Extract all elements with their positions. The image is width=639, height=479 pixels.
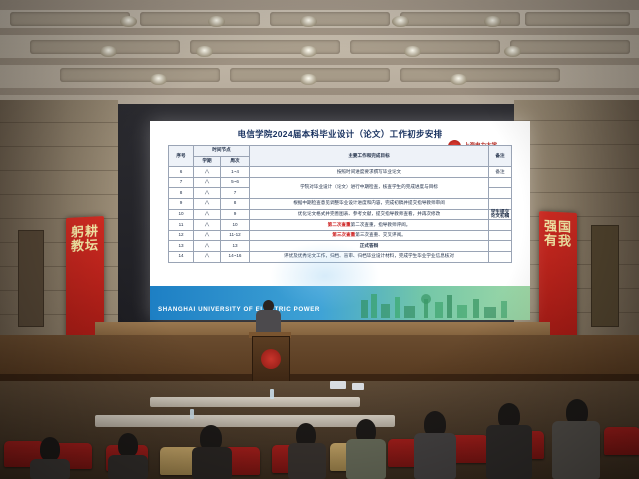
cell-term: 八 bbox=[194, 167, 221, 178]
cell-term: 八 bbox=[194, 177, 221, 188]
cell-no: 13 bbox=[169, 241, 194, 252]
cell-week: 13 bbox=[221, 241, 250, 252]
cell-no: 12 bbox=[169, 230, 194, 241]
floor bbox=[0, 381, 639, 479]
cell-term: 八 bbox=[194, 188, 221, 199]
cell-no: 10 bbox=[169, 209, 194, 220]
cell-highlight: 第二次查重 bbox=[328, 222, 351, 227]
ceiling bbox=[0, 0, 639, 112]
screen-glare bbox=[270, 241, 380, 311]
cell-note bbox=[489, 251, 512, 262]
cell-task: 根据中期检查意见调整毕业设计进度和内容，完成初稿并提交指导教师审阅 bbox=[250, 198, 489, 209]
cell-week: 11-12 bbox=[221, 230, 250, 241]
audience-person bbox=[486, 425, 532, 479]
audience-person bbox=[192, 447, 232, 479]
screenshot-root: 躬耕教坛 强国有我 电信学院2024届本科毕业设计（论文）工作初步安排 上海电力… bbox=[0, 0, 639, 479]
cell-no: 9 bbox=[169, 198, 194, 209]
cell-no: 11 bbox=[169, 220, 194, 231]
slide-footer-text: SHANGHAI UNIVERSITY OF ELECTRIC POWER bbox=[158, 306, 320, 313]
col-no: 序号 bbox=[169, 146, 194, 167]
audience-person bbox=[288, 443, 326, 479]
audience-person bbox=[108, 455, 148, 479]
cell-task: 优化论文格式并完善图表、参考文献，提交指导教师查看，并再次修改 bbox=[250, 209, 489, 220]
cell-note bbox=[489, 220, 512, 231]
table-front bbox=[150, 397, 360, 407]
cell-highlight: 正式答辩 bbox=[250, 241, 489, 252]
table-row: 12 八 11-12 第三次查重第三次查重、交叉评阅。 bbox=[169, 230, 512, 241]
cell-highlight: 第三次查重 bbox=[332, 232, 355, 237]
table-row: 11 八 10 第二次查重第二次查重，指导教师评阅。 bbox=[169, 220, 512, 231]
cell-term: 八 bbox=[194, 251, 221, 262]
table-row: 9 八 8 根据中期检查意见调整毕业设计进度和内容，完成初稿并提交指导教师审阅 bbox=[169, 198, 512, 209]
podium-emblem-icon bbox=[261, 349, 281, 369]
city-skyline-graphic bbox=[351, 288, 516, 318]
col-time: 时间节点 bbox=[194, 146, 250, 157]
cell-note bbox=[489, 241, 512, 252]
water-bottle bbox=[270, 389, 274, 399]
cell-note bbox=[489, 230, 512, 241]
cell-no: 14 bbox=[169, 251, 194, 262]
water-bottle bbox=[190, 409, 194, 419]
cell-week: 5~6 bbox=[221, 177, 250, 188]
cell-no: 7 bbox=[169, 177, 194, 188]
cell-term: 八 bbox=[194, 230, 221, 241]
cell-task: 第二次查重，指导教师评阅。 bbox=[351, 222, 411, 227]
audience-person bbox=[414, 433, 456, 479]
slide: 电信学院2024届本科毕业设计（论文）工作初步安排 上海电力大学 序号 时间节点… bbox=[150, 121, 530, 320]
cell-task: 学院对毕业设计（论文）进行中期检查，核查学生的完成进度与目标 bbox=[250, 177, 489, 198]
cell-term: 八 bbox=[194, 209, 221, 220]
cell-week: 10 bbox=[221, 220, 250, 231]
cell-week: 1~4 bbox=[221, 167, 250, 178]
chair bbox=[604, 427, 639, 455]
audience-person bbox=[346, 439, 386, 479]
cell-note bbox=[489, 177, 512, 188]
table-row: 6 八 1~4 按照时间进度要求撰写毕业论文 备注 bbox=[169, 167, 512, 178]
podium bbox=[252, 336, 290, 382]
cell-week: 9 bbox=[221, 209, 250, 220]
laptop bbox=[330, 381, 346, 389]
table-row: 10 八 9 优化论文格式并完善图表、参考文献，提交指导教师查看，并再次修改 学… bbox=[169, 209, 512, 220]
laptop bbox=[352, 383, 364, 390]
col-task: 主要工作和完成目标 bbox=[250, 146, 489, 167]
cell-note: 备注 bbox=[489, 167, 512, 178]
subcol-week: 周次 bbox=[221, 156, 250, 167]
audience-person bbox=[40, 437, 60, 461]
cell-week: 14~16 bbox=[221, 251, 250, 262]
led-screen: 电信学院2024届本科毕业设计（论文）工作初步安排 上海电力大学 序号 时间节点… bbox=[150, 121, 530, 320]
cell-highlight: 学生提交论文初稿 bbox=[489, 209, 512, 220]
cell-week: 8 bbox=[221, 198, 250, 209]
audience-person bbox=[30, 459, 70, 479]
audience-person bbox=[118, 433, 138, 457]
table-second bbox=[95, 415, 395, 427]
cell-task: 按照时间进度要求撰写毕业论文 bbox=[250, 167, 489, 178]
cell-week: 7 bbox=[221, 188, 250, 199]
cell-task: 第三次查重、交叉评阅。 bbox=[355, 232, 406, 237]
left-door bbox=[18, 230, 44, 327]
audience-person bbox=[552, 421, 600, 479]
cell-no: 8 bbox=[169, 188, 194, 199]
cell-term: 八 bbox=[194, 241, 221, 252]
cell-note bbox=[489, 198, 512, 209]
table-header-row: 序号 时间节点 主要工作和完成目标 备注 bbox=[169, 146, 512, 157]
right-door bbox=[591, 225, 619, 327]
cell-term: 八 bbox=[194, 220, 221, 231]
cell-note bbox=[489, 188, 512, 199]
stage-edge bbox=[0, 374, 639, 381]
subcol-term: 学期 bbox=[194, 156, 221, 167]
col-note: 备注 bbox=[489, 146, 512, 167]
table-row: 7 八 5~6 学院对毕业设计（论文）进行中期检查，核查学生的完成进度与目标 bbox=[169, 177, 512, 188]
cell-term: 八 bbox=[194, 198, 221, 209]
cell-no: 6 bbox=[169, 167, 194, 178]
